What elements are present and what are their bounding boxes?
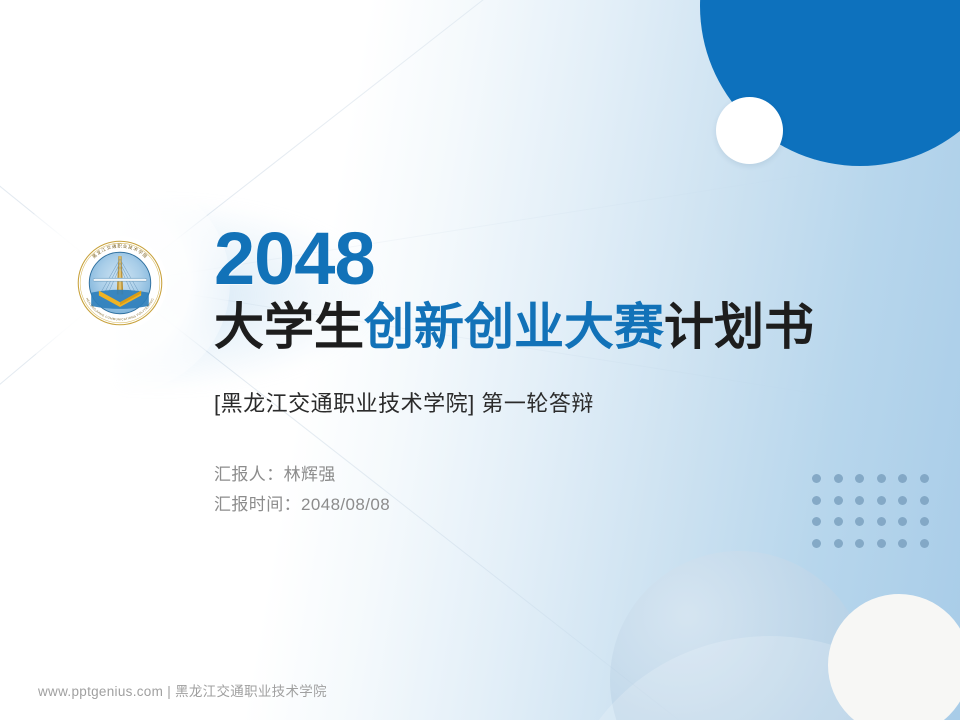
- white-circle-accent-bottom: [828, 594, 960, 720]
- presentation-slide: 黑龙江交通职业技术学院 HEILONGJIANG COMMUNICATIONS …: [0, 0, 960, 720]
- presenter-text: 汇报人：林辉强: [214, 460, 914, 489]
- pale-swoosh-decoration: [560, 636, 960, 720]
- blue-circle-decoration: [700, 0, 960, 166]
- meta-block: 汇报人：林辉强 汇报时间：2048/08/08: [214, 460, 914, 518]
- report-date-text: 汇报时间：2048/08/08: [214, 490, 914, 519]
- title-segment-blue: 创新创业大赛: [364, 299, 664, 355]
- soft-blue-circle-decoration: [610, 551, 868, 720]
- page-title: 大学生创新创业大赛计划书: [214, 300, 914, 354]
- subtitle-text: [黑龙江交通职业技术学院] 第一轮答辩: [214, 386, 914, 418]
- title-segment-dark-1: 大学生: [214, 299, 364, 355]
- white-circle-accent-top: [716, 97, 783, 164]
- title-segment-dark-2: 计划书: [664, 299, 814, 355]
- school-logo-icon: 黑龙江交通职业技术学院 HEILONGJIANG COMMUNICATIONS …: [72, 235, 168, 331]
- footer-text: www.pptgenius.com | 黑龙江交通职业技术学院: [38, 680, 327, 700]
- title-block: 2048 大学生创新创业大赛计划书 [黑龙江交通职业技术学院] 第一轮答辩 汇报…: [214, 224, 914, 519]
- radiating-line-4: [0, 283, 120, 720]
- year-heading: 2048: [214, 224, 914, 294]
